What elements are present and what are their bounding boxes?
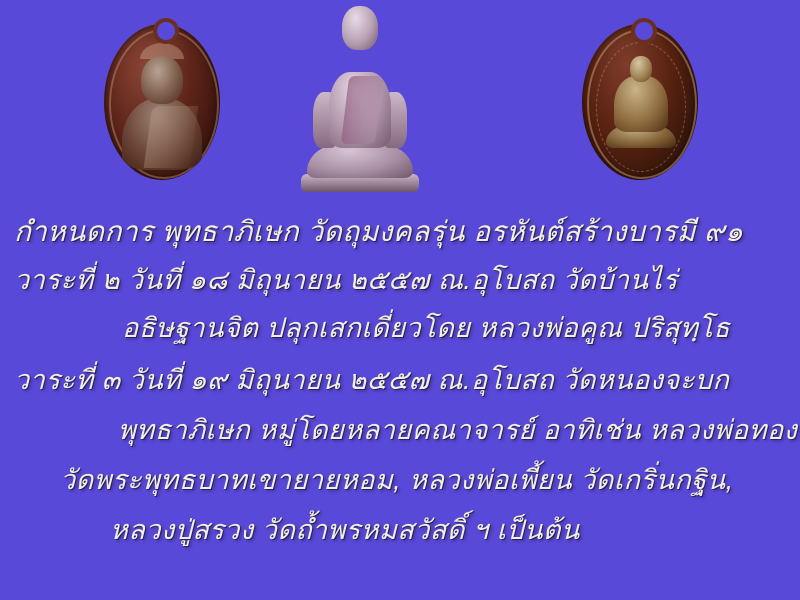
amulet-right-monk-body: [614, 76, 668, 132]
text-line-4: วาระที่ ๓ วันที่ ๑๙ มิถุนายน ๒๕๕๗ ณ.อุโบ…: [14, 358, 729, 401]
text-line-1: กำหนดการ พุทธาภิเษก วัดถุมงคลรุ่น อรหันต…: [14, 210, 743, 254]
text-line-6: วัดพระพุทธบาทเขายายหอม, หลวงพ่อเพี้ยน วั…: [60, 458, 734, 501]
oval-amulet-left: [104, 10, 220, 180]
amulet-left-monk-head: [141, 56, 183, 104]
announcement-text-block: กำหนดการ พุทธาภิเษก วัดถุมงคลรุ่น อรหันต…: [0, 196, 800, 600]
amulet-right-monk-head: [630, 56, 652, 82]
statue-legs: [307, 144, 413, 178]
text-line-5: พุทธาภิเษก หมู่โดยหลายคณาจารย์ อาทิเช่น …: [118, 408, 797, 451]
oval-amulet-right: [582, 10, 698, 180]
amulet-row: [0, 0, 800, 200]
statue-head: [342, 6, 378, 50]
seated-monk-statue: [295, 6, 425, 192]
amulet-left-hanging-loop: [153, 18, 179, 44]
amulet-left-monk-robe: [144, 106, 199, 168]
text-line-2: วาระที่ ๒ วันที่ ๑๘ มิถุนายน ๒๕๕๗ ณ.อุโบ…: [14, 258, 678, 301]
text-line-7: หลวงปู่สรวง วัดถ้ำพรหมสวัสดิ์ ฯ เป็นต้น: [110, 508, 580, 551]
amulet-right-hanging-loop: [631, 18, 657, 44]
text-line-3: อธิษฐานจิต ปลุกเสกเดี่ยวโดย หลวงพ่อคูณ ป…: [122, 306, 730, 349]
poster-canvas: กำหนดการ พุทธาภิเษก วัดถุมงคลรุ่น อรหันต…: [0, 0, 800, 600]
